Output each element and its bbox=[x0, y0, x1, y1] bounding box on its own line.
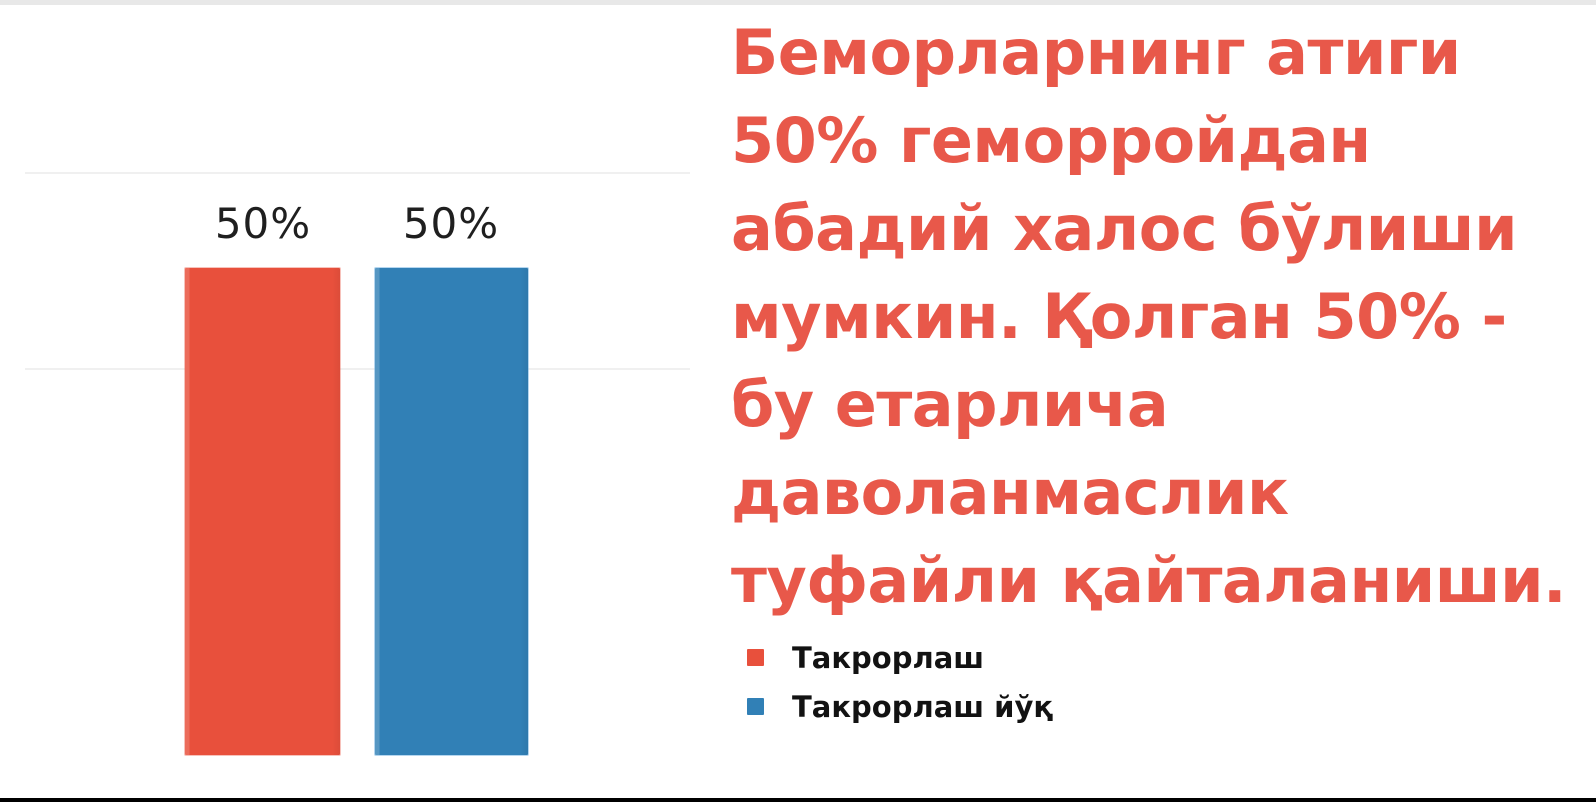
headline-panel: Беморларнинг атиги 50% геморройдан абади… bbox=[722, 5, 1596, 795]
bottom-divider-rule bbox=[0, 798, 1596, 802]
headline-text: Беморларнинг атиги 50% геморройдан абади… bbox=[731, 9, 1593, 625]
gridline-lower bbox=[25, 368, 690, 370]
bar-chart-panel: 50% 50% bbox=[0, 5, 706, 795]
bar-value-label-repeat: 50% bbox=[178, 203, 348, 245]
legend-swatch-repeat-icon bbox=[747, 649, 764, 666]
legend-item-repeat[interactable]: Такрорлаш bbox=[731, 633, 1331, 682]
bar-repeat[interactable] bbox=[185, 268, 340, 755]
legend-label-repeat: Такрорлаш bbox=[792, 641, 984, 675]
gridline-upper bbox=[25, 172, 690, 174]
legend-label-no-repeat: Такрорлаш йўқ bbox=[792, 690, 1053, 724]
legend-item-no-repeat[interactable]: Такрорлаш йўқ bbox=[731, 682, 1331, 731]
chart-legend: Такрорлаш Такрорлаш йўқ bbox=[731, 633, 1331, 731]
legend-swatch-no-repeat-icon bbox=[747, 698, 764, 715]
infographic-canvas: 50% 50% Беморларнинг атиги 50% геморройд… bbox=[0, 0, 1596, 806]
bar-value-label-no-repeat: 50% bbox=[366, 203, 536, 245]
bar-no-repeat[interactable] bbox=[375, 268, 528, 755]
